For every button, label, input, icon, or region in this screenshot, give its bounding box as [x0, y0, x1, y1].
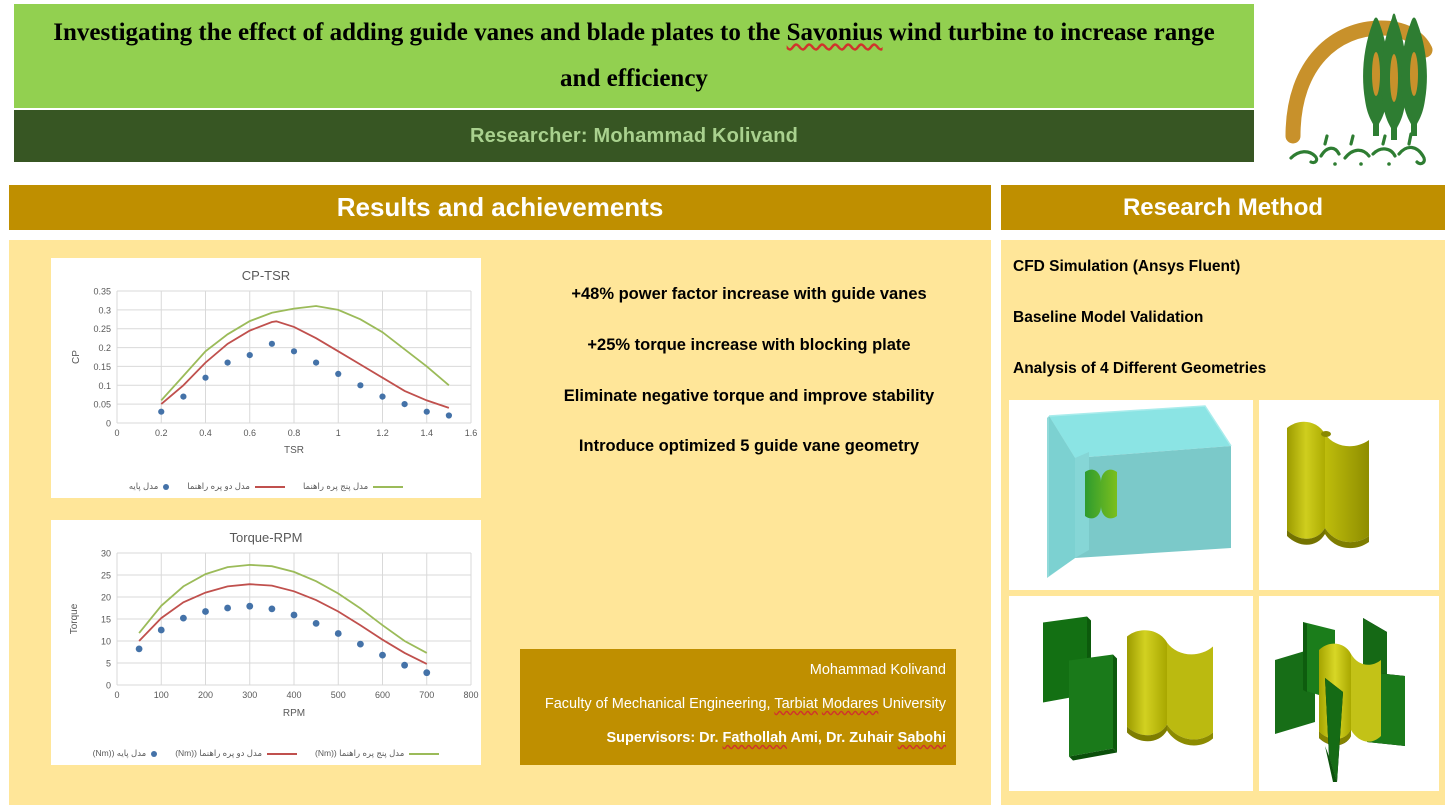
- legend-swatch-marker-blue: [163, 484, 169, 490]
- svg-text:0.3: 0.3: [98, 305, 111, 315]
- affiliation-uni-2: Modares: [822, 696, 878, 712]
- section-title-method: Research Method: [1123, 194, 1323, 222]
- svg-text:500: 500: [331, 690, 346, 700]
- svg-text:0.25: 0.25: [93, 324, 111, 334]
- savonius-rotor-icon: [1259, 400, 1439, 590]
- svg-text:700: 700: [419, 690, 434, 700]
- section-header-method: Research Method: [1001, 185, 1445, 230]
- svg-text:1: 1: [336, 428, 341, 438]
- legend-item-five-vanes-torque: مدل پنج پره راهنما ((Nm): [315, 748, 439, 759]
- author-affiliation: Faculty of Mechanical Engineering, Tarbi…: [530, 695, 946, 713]
- svg-text:400: 400: [286, 690, 301, 700]
- svg-text:0.2: 0.2: [155, 428, 168, 438]
- title-part-1: Investigating the effect of adding guide…: [53, 19, 786, 46]
- svg-text:0.2: 0.2: [98, 343, 111, 353]
- svg-text:100: 100: [154, 690, 169, 700]
- geometry-rotor-with-two-guide-vanes: [1009, 596, 1253, 791]
- legend-label-two-vanes: مدل دو پره راهنما: [187, 481, 250, 492]
- two-guide-vanes-icon: [1009, 596, 1253, 791]
- chart-torque-rpm-title: Torque-RPM: [51, 520, 481, 545]
- legend-swatch-line-green: [373, 486, 403, 488]
- section-title-results: Results and achievements: [337, 192, 664, 223]
- svg-text:5: 5: [106, 659, 111, 669]
- geometry-rotor-with-five-guide-vanes: [1259, 596, 1439, 791]
- svg-text:0: 0: [106, 681, 111, 691]
- legend-swatch-line-red: [267, 753, 297, 755]
- cfd-domain-icon: [1009, 400, 1253, 590]
- legend-swatch-line-red: [255, 486, 285, 488]
- svg-text:20: 20: [101, 593, 111, 603]
- svg-text:600: 600: [375, 690, 390, 700]
- svg-text:0: 0: [114, 690, 119, 700]
- affiliation-post: University: [878, 696, 946, 712]
- svg-text:0: 0: [114, 428, 119, 438]
- chart-cp-tsr-title: CP-TSR: [51, 258, 481, 283]
- svg-text:0.35: 0.35: [93, 287, 111, 297]
- chart-torque-rpm-plot: 3025 2015 105 0 0100 200300 400500 60070…: [51, 545, 481, 726]
- legend-label-baseline-torque: مدل پایه ((Nm): [93, 748, 147, 759]
- poster-title-banner: Investigating the effect of adding guide…: [14, 4, 1254, 108]
- svg-text:0.1: 0.1: [98, 381, 111, 391]
- legend-item-baseline-torque: مدل پایه ((Nm): [93, 748, 158, 759]
- five-guide-vanes-icon: [1259, 596, 1439, 791]
- method-item-2: Baseline Model Validation: [1013, 309, 1433, 327]
- legend-label-five-vanes: مدل پنج پره راهنما: [303, 481, 368, 492]
- svg-text:0.6: 0.6: [243, 428, 256, 438]
- chart-torque-rpm-svg: 3025 2015 105 0 0100 200300 400500 60070…: [51, 545, 481, 726]
- chart-cp-tsr-svg: 0.350.3 0.250.2 0.150.1 0.050 00.2 0.40.…: [51, 283, 481, 459]
- svg-text:10: 10: [101, 637, 111, 647]
- geometry-image-grid: [1009, 400, 1437, 792]
- svg-text:200: 200: [198, 690, 213, 700]
- svg-text:1.6: 1.6: [465, 428, 478, 438]
- svg-text:1.2: 1.2: [376, 428, 389, 438]
- method-item-1: CFD Simulation (Ansys Fluent): [1013, 258, 1433, 276]
- legend-item-two-vanes: مدل دو پره راهنما: [187, 481, 285, 492]
- svg-text:25: 25: [101, 571, 111, 581]
- geometry-savonius-rotor-baseline: [1259, 400, 1439, 590]
- affiliation-uni-1: Tarbiat: [774, 696, 818, 712]
- svg-text:RPM: RPM: [283, 708, 305, 719]
- result-bullet-1: +48% power factor increase with guide va…: [514, 285, 984, 305]
- supervisors-mid: Ami, Dr. Zuhair: [787, 730, 898, 746]
- chart-torque-rpm: Torque-RPM: [51, 520, 481, 765]
- chart-cp-tsr: CP-TSR: [51, 258, 481, 498]
- results-panel: CP-TSR: [9, 240, 991, 805]
- legend-label-five-vanes-torque: مدل پنج پره راهنما ((Nm): [315, 748, 404, 759]
- supervisors-pre: Supervisors: Dr.: [607, 730, 723, 746]
- chart-cp-tsr-legend: مدل پنج پره راهنما مدل دو پره راهنما مدل…: [51, 481, 481, 492]
- chart-cp-tsr-plot: 0.350.3 0.250.2 0.150.1 0.050 00.2 0.40.…: [51, 283, 481, 459]
- author-supervisors: Supervisors: Dr. Fathollah Ami, Dr. Zuha…: [530, 729, 946, 747]
- torque-baseline-markers: [136, 603, 430, 676]
- method-item-list: CFD Simulation (Ansys Fluent) Baseline M…: [1013, 258, 1433, 411]
- svg-text:0.15: 0.15: [93, 362, 111, 372]
- legend-item-baseline: مدل پایه: [129, 481, 169, 492]
- method-item-3: Analysis of 4 Different Geometries: [1013, 360, 1433, 378]
- poster-title: Investigating the effect of adding guide…: [34, 10, 1234, 102]
- method-panel: CFD Simulation (Ansys Fluent) Baseline M…: [1001, 240, 1445, 805]
- legend-swatch-marker-blue: [151, 751, 157, 757]
- result-bullet-4: Introduce optimized 5 guide vane geometr…: [514, 437, 984, 457]
- svg-text:TSR: TSR: [284, 445, 304, 456]
- geometry-cfd-domain-with-rotor: [1009, 400, 1253, 590]
- svg-text:800: 800: [463, 690, 478, 700]
- researcher-name: Researcher: Mohammad Kolivand: [470, 125, 798, 148]
- affiliation-pre: Faculty of Mechanical Engineering,: [545, 696, 774, 712]
- author-info-box: Mohammad Kolivand Faculty of Mechanical …: [520, 649, 956, 765]
- title-savonius: Savonius: [787, 19, 883, 46]
- svg-text:0: 0: [106, 419, 111, 429]
- svg-text:0.05: 0.05: [93, 400, 111, 410]
- legend-label-two-vanes-torque: مدل دو پره راهنما ((Nm): [175, 748, 262, 759]
- tarbiat-modares-logo-icon: [1265, 4, 1445, 172]
- svg-text:1.4: 1.4: [420, 428, 433, 438]
- svg-text:CP: CP: [71, 350, 82, 364]
- svg-text:15: 15: [101, 615, 111, 625]
- svg-text:0.4: 0.4: [199, 428, 212, 438]
- legend-item-five-vanes: مدل پنج پره راهنما: [303, 481, 403, 492]
- legend-item-two-vanes-torque: مدل دو پره راهنما ((Nm): [175, 748, 297, 759]
- supervisor-name-2: Sabohi: [898, 730, 946, 746]
- chart-torque-rpm-legend: مدل پنج پره راهنما ((Nm) مدل دو پره راهن…: [51, 748, 481, 759]
- researcher-banner: Researcher: Mohammad Kolivand: [14, 110, 1254, 162]
- section-header-results: Results and achievements: [9, 185, 991, 230]
- university-logo: [1258, 0, 1451, 175]
- legend-swatch-line-green: [409, 753, 439, 755]
- result-bullet-3: Eliminate negative torque and improve st…: [514, 387, 984, 407]
- legend-label-baseline: مدل پایه: [129, 481, 158, 492]
- result-bullet-2: +25% torque increase with blocking plate: [514, 336, 984, 356]
- svg-text:0.8: 0.8: [288, 428, 301, 438]
- poster-root: Investigating the effect of adding guide…: [0, 0, 1451, 812]
- author-name: Mohammad Kolivand: [530, 661, 946, 679]
- svg-text:Torque: Torque: [69, 603, 80, 634]
- results-bullet-list: +48% power factor increase with guide va…: [514, 285, 984, 488]
- supervisor-name-1: Fathollah: [723, 730, 787, 746]
- svg-text:30: 30: [101, 549, 111, 559]
- svg-text:300: 300: [242, 690, 257, 700]
